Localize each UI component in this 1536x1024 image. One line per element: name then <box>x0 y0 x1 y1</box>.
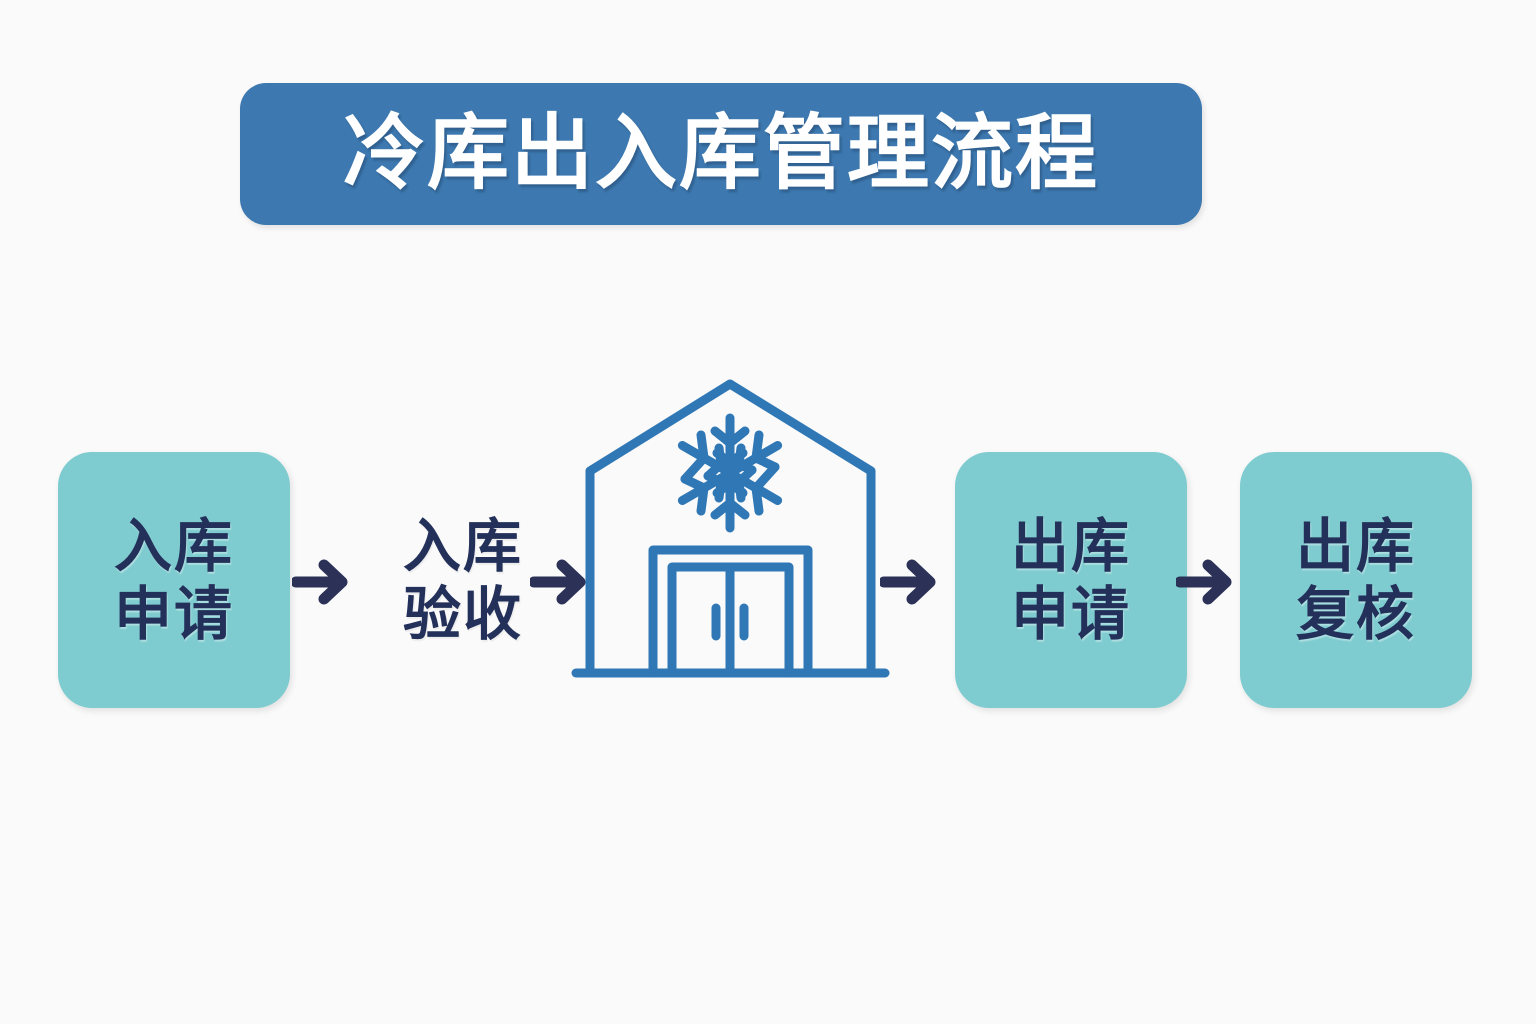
diagram-canvas: 冷库出入库管理流程 入库 申请 入库 验收 <box>0 0 1536 1024</box>
title-banner: 冷库出入库管理流程 <box>240 83 1202 225</box>
flow-step-inbound-application[interactable]: 入库 申请 <box>58 452 290 708</box>
flow-step-outbound-application[interactable]: 出库 申请 <box>955 452 1187 708</box>
page-title: 冷库出入库管理流程 <box>343 113 1099 195</box>
step-label-line2: 申请 <box>1011 580 1131 648</box>
step-label-line2: 申请 <box>114 580 234 648</box>
step-label-line1: 入库 <box>403 512 523 580</box>
step-label-line1: 入库 <box>114 512 234 580</box>
snowflake-icon <box>682 418 777 528</box>
step-label-line2: 复核 <box>1296 580 1416 648</box>
arrow-right-icon <box>880 556 942 608</box>
step-label-line1: 出库 <box>1011 512 1131 580</box>
cold-storage-warehouse-icon <box>568 368 893 698</box>
flow-diagram: 入库 申请 入库 验收 <box>0 360 1536 720</box>
arrow-right-icon <box>1176 556 1238 608</box>
flow-step-outbound-review[interactable]: 出库 复核 <box>1240 452 1472 708</box>
arrow-right-icon <box>292 556 354 608</box>
step-label-line2: 验收 <box>403 580 523 648</box>
step-label-line1: 出库 <box>1296 512 1416 580</box>
